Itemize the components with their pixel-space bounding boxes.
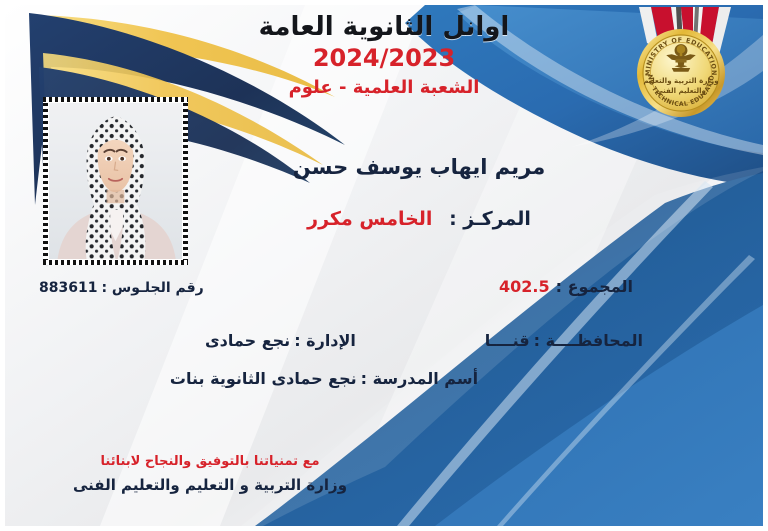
academic-year: 2024/2023 (5, 43, 763, 74)
student-name: مريم ايهاب يوسف حسن (5, 155, 763, 179)
school-label: أسم المدرسة : (361, 369, 478, 388)
footer-ministry-text: وزارة التربية و التعليم والتعليم الفنى (45, 473, 375, 497)
certificate-card: MINISTRY OF EDUCATION AND TECHNICAL EDUC… (0, 0, 768, 531)
rank-value: الخامس مكرر (307, 208, 432, 230)
governorate-label: المحافظــــة : (534, 331, 643, 350)
school-value: نجع حمادى الثانوية بنات (170, 369, 357, 388)
governorate-and-administration-row: المحافظــــة :قنــــا الإدارة :نجع حمادى (205, 331, 643, 350)
governorate-field: المحافظــــة :قنــــا (485, 331, 643, 350)
header-block: اوانل الثانوية العامة 2024/2023 الشعبة ا… (5, 13, 763, 101)
student-photo-frame (43, 97, 188, 265)
total-and-seat-row: المجموع :402.5 رقم الجلـوس :883611 (39, 277, 633, 296)
administration-value: نجع حمادى (205, 331, 290, 350)
student-photo (49, 103, 182, 259)
study-section: الشعبة العلمية - علوم (5, 74, 763, 101)
total-label: المجموع : (556, 277, 633, 296)
school-field: أسم المدرسة :نجع حمادى الثانوية بنات (170, 369, 478, 388)
certificate-canvas: MINISTRY OF EDUCATION AND TECHNICAL EDUC… (5, 5, 763, 526)
footer-wish-text: مع تمنياتنا بالتوفيق والنجاح لابنائنا (45, 451, 375, 473)
seat-value: 883611 (39, 280, 97, 296)
rank-row: المركـز : الخامس مكرر (5, 208, 763, 230)
governorate-value: قنــــا (485, 331, 530, 350)
certificate-title: اوانل الثانوية العامة (5, 13, 763, 43)
footer-block: مع تمنياتنا بالتوفيق والنجاح لابنائنا وز… (45, 451, 375, 497)
seat-field: رقم الجلـوس :883611 (39, 280, 204, 296)
administration-label: الإدارة : (294, 331, 356, 350)
seat-label: رقم الجلـوس : (101, 280, 203, 296)
school-row: أسم المدرسة :نجع حمادى الثانوية بنات (5, 369, 643, 388)
rank-label: المركـز : (449, 208, 531, 230)
total-field: المجموع :402.5 (499, 277, 633, 296)
total-value: 402.5 (499, 277, 550, 296)
administration-field: الإدارة :نجع حمادى (205, 331, 356, 350)
